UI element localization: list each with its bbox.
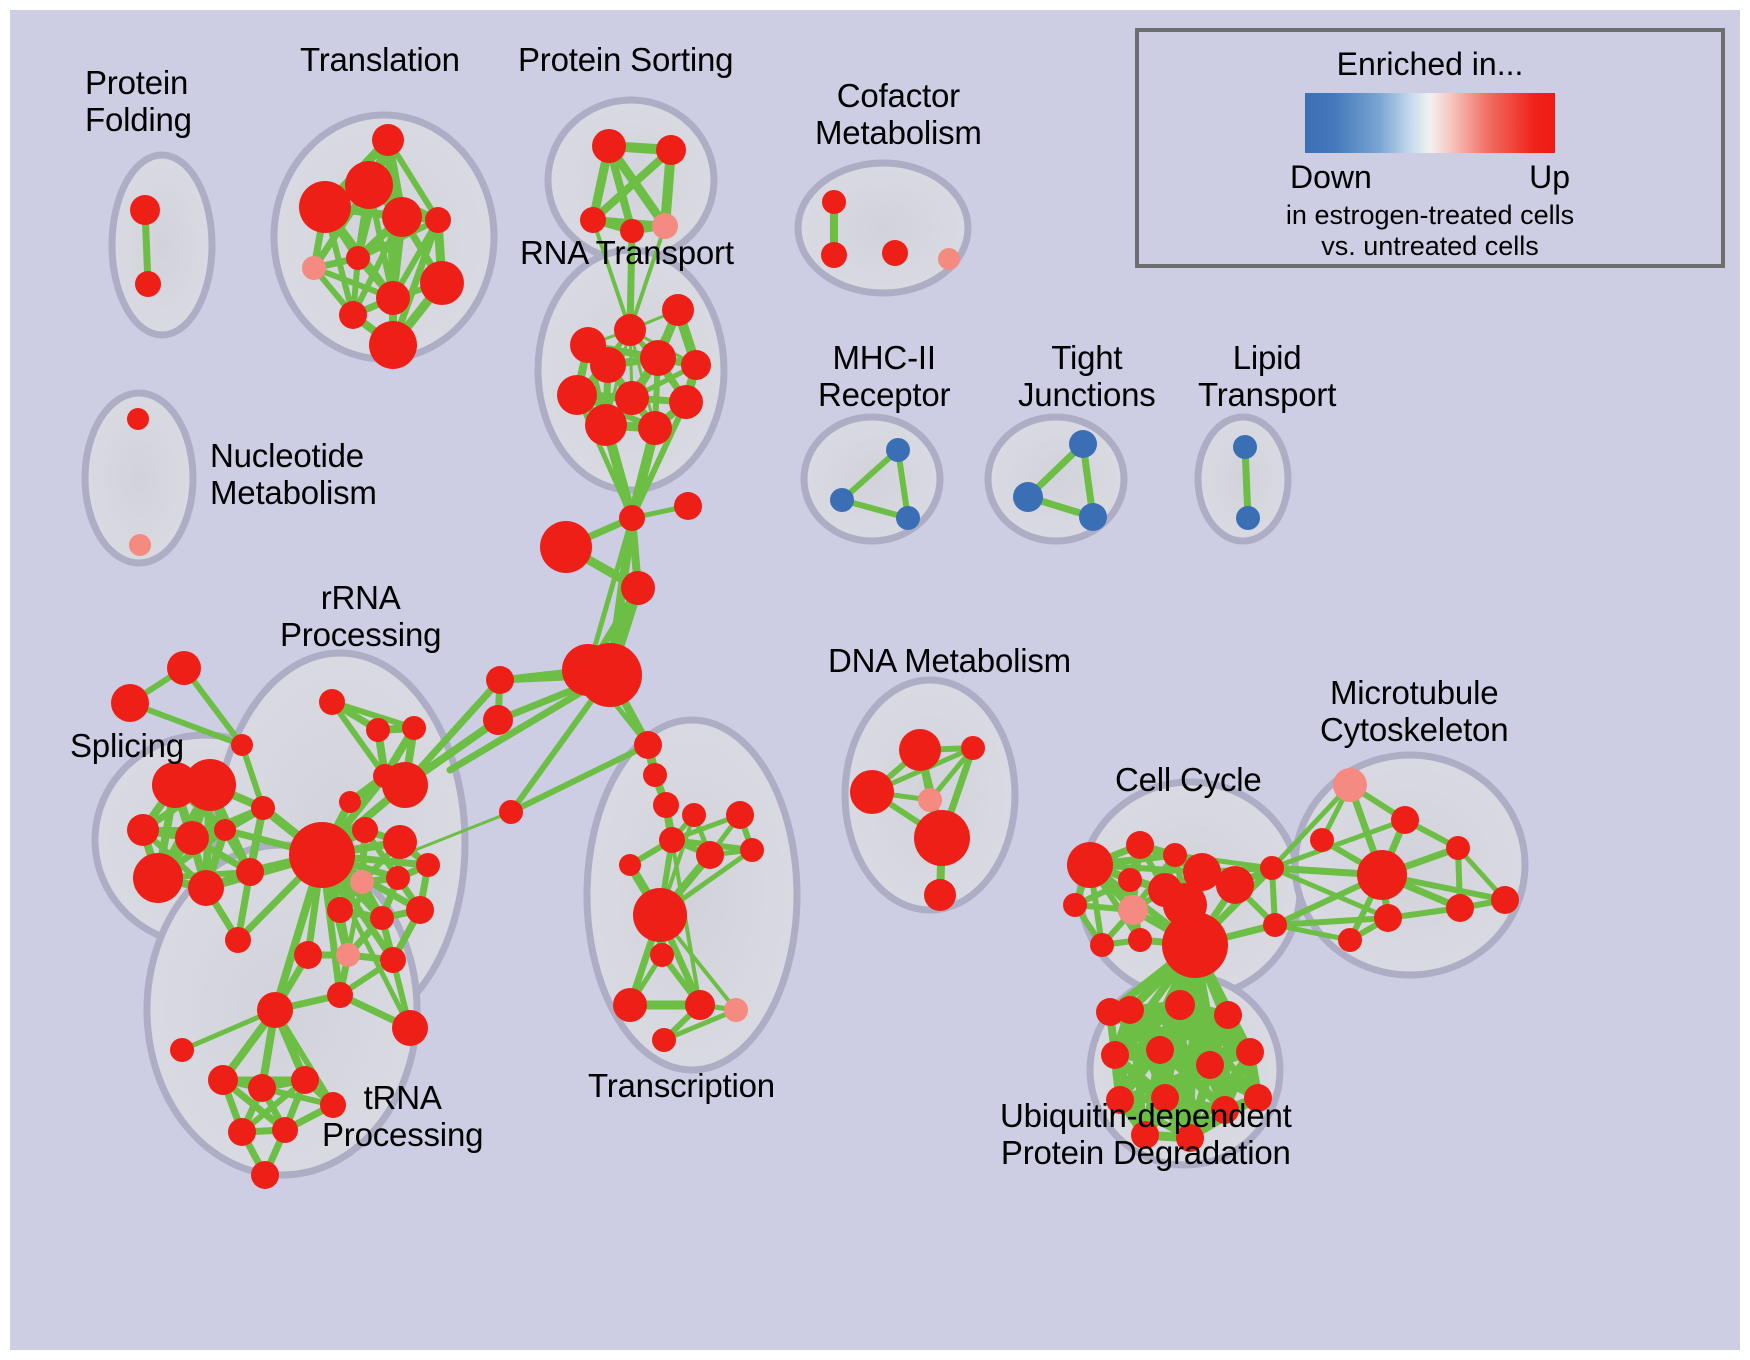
node xyxy=(251,796,275,820)
node xyxy=(580,207,606,233)
node xyxy=(327,982,353,1008)
node xyxy=(681,350,711,380)
node xyxy=(130,195,160,225)
node xyxy=(127,408,149,430)
cluster-label-cofactor-metabolism: Cofactor Metabolism xyxy=(815,78,982,152)
hull-protein-folding xyxy=(112,155,212,335)
node xyxy=(621,571,655,605)
node xyxy=(135,271,161,297)
cluster-label-tight-junctions: Tight Junctions xyxy=(1018,340,1156,414)
cluster-label-mhc-ii-receptor: MHC-II Receptor xyxy=(818,340,950,414)
node xyxy=(382,197,422,237)
node xyxy=(1233,435,1257,459)
node xyxy=(659,827,685,853)
node xyxy=(339,791,361,813)
node xyxy=(383,825,417,859)
node xyxy=(650,943,674,967)
node xyxy=(938,248,960,270)
node xyxy=(1079,503,1107,531)
node xyxy=(634,731,662,759)
hull-cofactor-metabolism xyxy=(798,163,968,293)
node xyxy=(1374,904,1402,932)
node xyxy=(129,534,151,556)
node xyxy=(1236,1038,1264,1066)
node xyxy=(696,841,724,869)
node xyxy=(289,822,355,888)
node xyxy=(425,207,451,233)
node xyxy=(111,684,149,722)
node xyxy=(294,941,322,969)
node xyxy=(685,990,715,1020)
node xyxy=(886,438,910,462)
node xyxy=(557,375,597,415)
node xyxy=(1163,843,1187,867)
node xyxy=(896,506,920,530)
node xyxy=(486,666,514,694)
node xyxy=(578,643,642,707)
node xyxy=(619,854,641,876)
node xyxy=(740,838,764,862)
node xyxy=(614,314,646,346)
node xyxy=(850,770,894,814)
node xyxy=(1116,996,1144,1024)
cluster-label-splicing: Splicing xyxy=(70,728,184,765)
legend: Enriched in... Down Up in estrogen-treat… xyxy=(1135,28,1725,268)
node xyxy=(590,347,626,383)
cluster-label-rrna-processing: rRNA Processing xyxy=(280,580,441,654)
legend-caption-line-1: in estrogen-treated cells xyxy=(1286,200,1574,231)
node xyxy=(188,870,224,906)
node xyxy=(918,788,942,812)
legend-color-gradient-bar xyxy=(1305,93,1555,153)
node xyxy=(392,1010,428,1046)
node xyxy=(662,294,694,326)
node xyxy=(822,190,846,214)
node xyxy=(1163,883,1207,927)
node xyxy=(175,821,209,855)
node xyxy=(327,897,353,923)
node xyxy=(346,246,370,270)
node xyxy=(1101,1041,1129,1069)
node xyxy=(1090,933,1114,957)
node xyxy=(225,927,251,953)
node xyxy=(406,896,434,924)
node xyxy=(380,947,406,973)
node xyxy=(1391,806,1419,834)
cluster-label-transcription: Transcription xyxy=(588,1068,775,1105)
node xyxy=(386,866,410,890)
node xyxy=(1067,842,1113,888)
legend-title: Enriched in... xyxy=(1337,46,1524,83)
node xyxy=(416,853,440,877)
node xyxy=(882,240,908,266)
cluster-label-trna-processing: tRNA Processing xyxy=(322,1080,483,1154)
node xyxy=(369,321,417,369)
node xyxy=(1146,1036,1174,1064)
node xyxy=(251,1161,279,1189)
node xyxy=(352,817,378,843)
node xyxy=(924,879,956,911)
node xyxy=(319,689,345,715)
node xyxy=(653,792,679,818)
node xyxy=(726,801,754,829)
node xyxy=(633,888,687,942)
cluster-label-lipid-transport: Lipid Transport xyxy=(1198,340,1336,414)
node xyxy=(1236,506,1260,530)
network-canvas: Protein Folding Translation Protein Sort… xyxy=(10,10,1740,1350)
node xyxy=(1260,856,1284,880)
node xyxy=(167,651,201,685)
node xyxy=(1128,928,1152,952)
cluster-label-nucleotide-metabolism: Nucleotide Metabolism xyxy=(210,438,377,512)
node xyxy=(336,943,360,967)
node xyxy=(231,734,253,756)
node xyxy=(640,340,676,376)
node xyxy=(1069,430,1097,458)
legend-high-label: Up xyxy=(1529,159,1570,196)
node xyxy=(724,998,748,1022)
node xyxy=(382,762,428,808)
node xyxy=(366,718,390,742)
node xyxy=(299,181,351,233)
node xyxy=(585,404,627,446)
cluster-label-microtubule-cytoskeleton: Microtubule Cytoskeleton xyxy=(1320,675,1508,749)
node xyxy=(257,992,293,1028)
node xyxy=(669,385,703,419)
node xyxy=(1446,836,1470,860)
node xyxy=(914,810,970,866)
node xyxy=(170,1038,194,1062)
node xyxy=(228,1118,256,1146)
node xyxy=(1333,768,1367,802)
node xyxy=(619,505,645,531)
node xyxy=(370,906,394,930)
node xyxy=(1214,1001,1242,1029)
node xyxy=(184,759,236,811)
cluster-label-protein-folding: Protein Folding xyxy=(85,65,192,139)
node xyxy=(1063,893,1087,917)
node xyxy=(339,301,367,329)
cluster-label-rna-transport: RNA Transport xyxy=(520,235,734,272)
legend-end-labels: Down Up xyxy=(1285,159,1575,196)
legend-low-label: Down xyxy=(1290,159,1372,196)
node xyxy=(1165,990,1195,1020)
node xyxy=(214,819,236,841)
node xyxy=(372,124,404,156)
cluster-label-cell-cycle: Cell Cycle xyxy=(1115,762,1262,799)
node xyxy=(272,1117,298,1143)
figure-page: Protein Folding Translation Protein Sort… xyxy=(0,0,1750,1360)
node xyxy=(1310,828,1334,852)
node xyxy=(674,492,702,520)
node xyxy=(613,988,647,1022)
cluster-label-protein-sorting: Protein Sorting xyxy=(518,42,733,79)
node xyxy=(1338,928,1362,952)
node xyxy=(1118,868,1142,892)
node xyxy=(350,870,374,894)
node xyxy=(302,256,326,280)
node xyxy=(652,1028,676,1052)
node xyxy=(638,411,672,445)
node xyxy=(127,814,159,846)
cluster-label-ubiquitin-protein-degradation: Ubiquitin-dependent Protein Degradation xyxy=(1000,1098,1292,1172)
node xyxy=(248,1074,276,1102)
node xyxy=(899,729,941,771)
node xyxy=(656,135,686,165)
node xyxy=(420,261,464,305)
node xyxy=(483,705,513,735)
node xyxy=(1357,850,1407,900)
node xyxy=(1118,895,1148,925)
cluster-label-dna-metabolism: DNA Metabolism xyxy=(828,643,1071,680)
node xyxy=(499,800,523,824)
node xyxy=(592,129,626,163)
node xyxy=(961,736,985,760)
node xyxy=(236,858,264,886)
node xyxy=(1216,866,1254,904)
node xyxy=(643,763,667,787)
node xyxy=(1491,886,1519,914)
node xyxy=(1126,831,1154,859)
node xyxy=(376,281,410,315)
node xyxy=(682,803,706,827)
node xyxy=(402,716,426,740)
node xyxy=(133,853,183,903)
hull-mhc-ii-receptor xyxy=(804,417,940,541)
node xyxy=(291,1066,319,1094)
legend-caption-line-2: vs. untreated cells xyxy=(1321,231,1539,262)
cluster-label-translation: Translation xyxy=(300,42,460,79)
node xyxy=(540,521,592,573)
node xyxy=(1196,1051,1224,1079)
node xyxy=(821,242,847,268)
node xyxy=(830,488,854,512)
node xyxy=(1446,894,1474,922)
node xyxy=(345,161,393,209)
node xyxy=(1013,482,1043,512)
node xyxy=(1263,913,1287,937)
node xyxy=(208,1065,238,1095)
